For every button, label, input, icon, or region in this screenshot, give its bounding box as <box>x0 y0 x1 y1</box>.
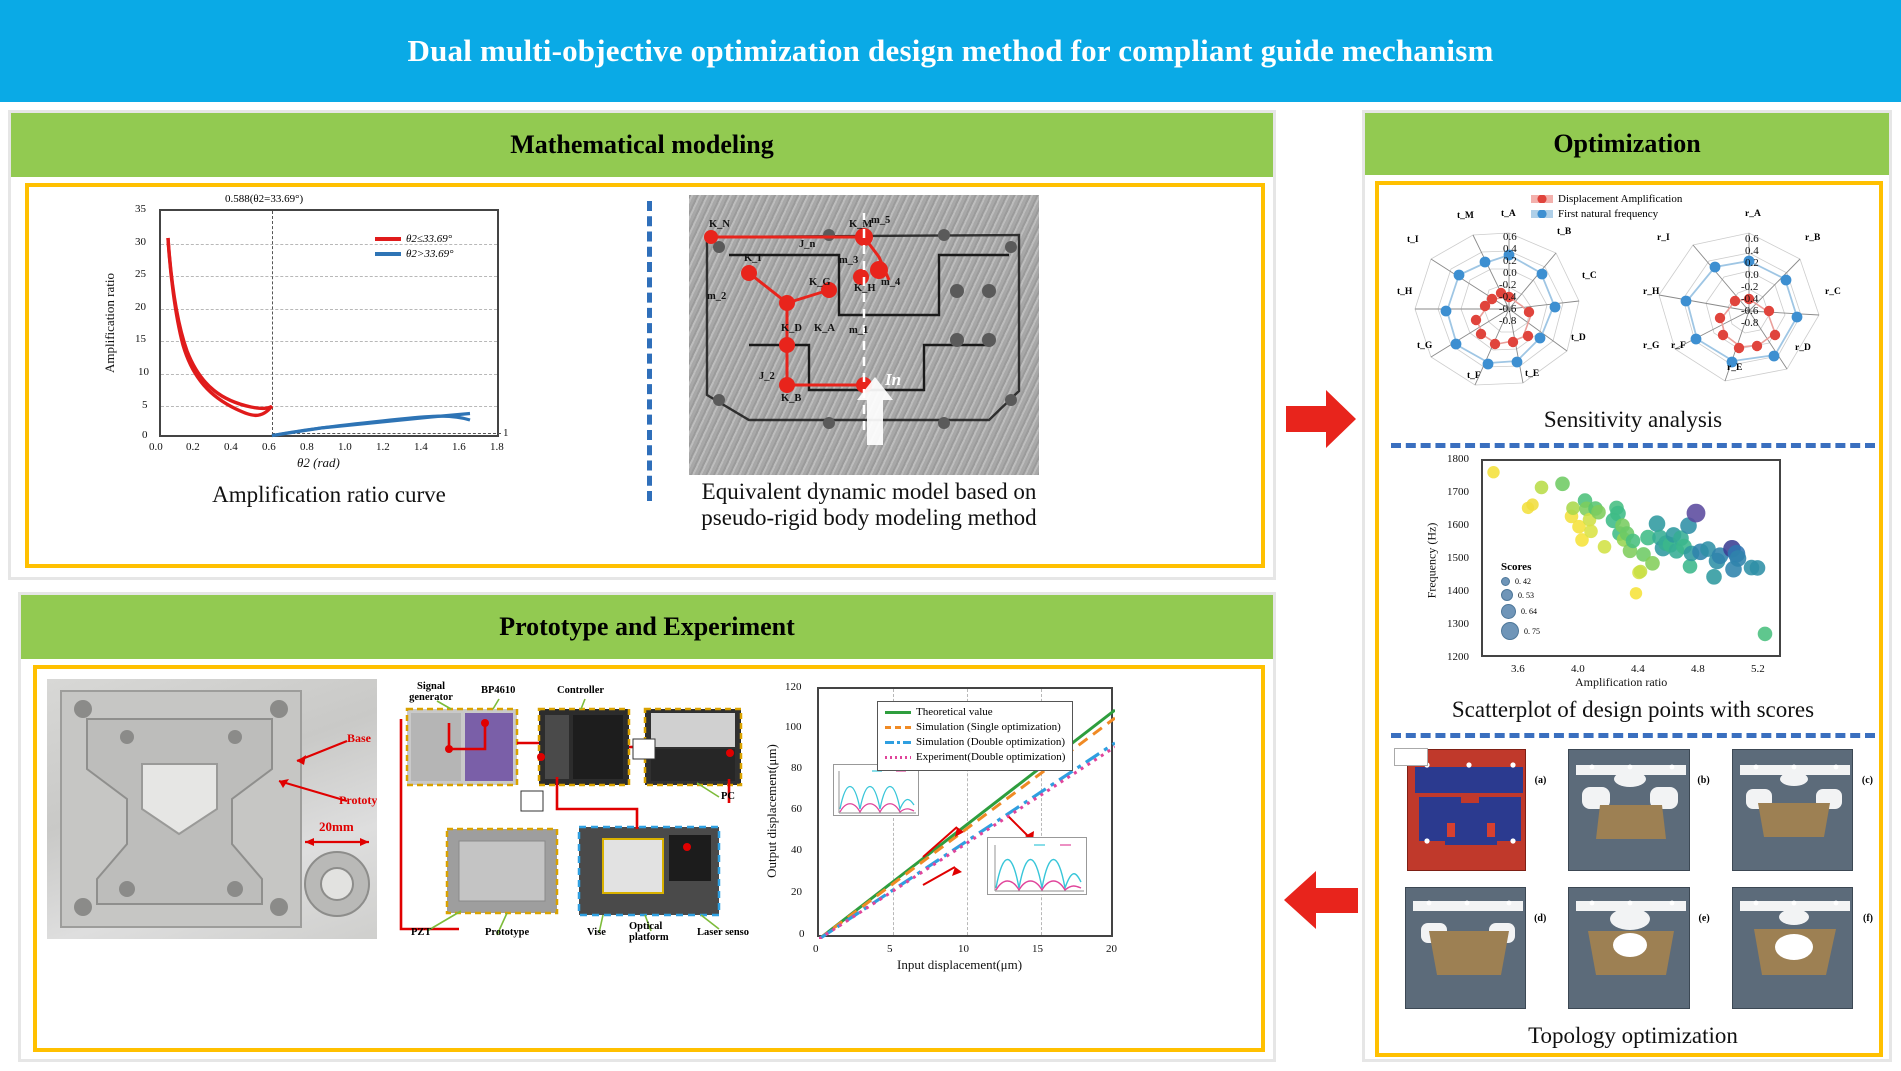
radar-axis-label-tA: t_A <box>1501 209 1516 219</box>
legend-swatch-blue <box>375 252 401 256</box>
topology-label-d: (d) <box>1534 913 1546 924</box>
rtick: 0.0 <box>1503 267 1517 279</box>
ytick: 20 <box>791 886 802 898</box>
rtick: 0.2 <box>1503 255 1517 267</box>
caption-dynamic-line1: Equivalent dynamic model based on <box>669 479 1069 505</box>
xtick: 15 <box>1032 943 1043 955</box>
scatter-point <box>1649 515 1666 532</box>
ytick: 0 <box>799 928 805 940</box>
label-vise: Vise <box>587 927 606 938</box>
output-input-legend: Theoretical value Simulation (Single opt… <box>877 701 1073 771</box>
ytick: 40 <box>791 844 802 856</box>
math-divider <box>647 201 652 501</box>
scatter-point <box>1706 569 1722 585</box>
xtick: 10 <box>958 943 969 955</box>
label-m1: m_1 <box>849 325 868 336</box>
radar-axis-label-tF: t_F <box>1467 371 1481 381</box>
radar-axis-label-rI: r_I <box>1657 233 1670 243</box>
xtick: 0.4 <box>224 441 238 453</box>
topology-label-e: (e) <box>1699 913 1710 924</box>
label-controller: Controller <box>557 685 604 696</box>
ytick: 80 <box>791 762 802 774</box>
caption-dynamic-line2: pseudo-rigid body modeling method <box>669 505 1069 531</box>
radar-axis-label-tE: t_E <box>1525 369 1539 379</box>
legend-swatch-sim-single <box>885 726 911 729</box>
topology-label-c: (c) <box>1862 775 1873 786</box>
scatter-point <box>1687 504 1706 523</box>
xtick: 5 <box>887 943 893 955</box>
label-J2: J_2 <box>759 371 775 382</box>
topology-subpanel-d: (d) <box>1391 883 1548 1015</box>
label-bp4610: BP4610 <box>481 685 515 696</box>
ytick: 1600 <box>1447 519 1469 531</box>
label-KD: K_D <box>781 323 802 334</box>
score-bubble-2 <box>1501 589 1513 601</box>
x-axis-label: Input displacement(μm) <box>897 957 1022 973</box>
experiment-setup-photo: Signal generator BP4610 Controller PC PZ… <box>389 679 749 959</box>
legend-swatch-sim-double <box>885 741 911 744</box>
topology-subpanel-c: (c) <box>1718 745 1875 877</box>
xtick: 20 <box>1106 943 1117 955</box>
label-KG: K_G <box>809 277 831 288</box>
y-axis-label: Frequency (Hz) <box>1424 523 1439 599</box>
xtick: 0 <box>813 943 819 955</box>
amplification-legend: θ2≤33.69° θ2>33.69° <box>375 233 453 263</box>
radar-axis-label-rD: r_D <box>1795 343 1811 353</box>
panel-math-header: Mathematical modeling <box>11 113 1273 177</box>
score-bubble-1 <box>1501 577 1510 586</box>
right-axis-tick: 1 <box>503 427 509 439</box>
topology-label-f: (f) <box>1863 913 1873 924</box>
legend-item: 0. 42 <box>1501 577 1540 586</box>
panel-mathematical-modeling: Mathematical modeling 0.588(θ2=33.69°) <box>8 110 1276 580</box>
caption-topology: Topology optimization <box>1483 1023 1783 1049</box>
label-m4: m_4 <box>881 277 900 288</box>
panel-prototype-experiment: Prototype and Experiment <box>18 592 1276 1062</box>
ytick: 5 <box>142 399 148 411</box>
label-prototype: Prototype <box>339 793 377 808</box>
xtick: 0.0 <box>149 441 163 453</box>
ytick: 1700 <box>1447 486 1469 498</box>
radar-axis-label-tM: t_M <box>1457 211 1474 221</box>
label-20mm: 20mm <box>319 819 354 835</box>
scatter-point <box>1584 525 1598 539</box>
ytick: 100 <box>785 721 802 733</box>
rtick: 0.0 <box>1745 269 1759 281</box>
radar-axis-label-tH: t_H <box>1397 287 1412 297</box>
topology-subpanel-b: (b) <box>1554 745 1711 877</box>
topology-label-b: (b) <box>1697 775 1709 786</box>
scores-legend-title: Scores <box>1501 561 1540 573</box>
scatter-point <box>1535 481 1549 495</box>
radar-axis-label-tI: t_I <box>1407 235 1419 245</box>
ytick: 1400 <box>1447 585 1469 597</box>
xtick: 4.0 <box>1571 663 1585 675</box>
score-bubble-3 <box>1501 604 1516 619</box>
caption-scatterplot: Scatterplot of design points with scores <box>1403 697 1863 723</box>
scatter-point <box>1526 498 1538 510</box>
legend-label: Simulation (Single optimization) <box>916 721 1061 733</box>
inset-waveform-2 <box>987 837 1087 895</box>
xtick: 1.8 <box>490 441 504 453</box>
score-bubble-4 <box>1501 622 1519 640</box>
ytick: 1500 <box>1447 552 1469 564</box>
legend-label: θ2>33.69° <box>406 248 453 260</box>
ytick: 25 <box>135 268 146 280</box>
radar-axis-label-rF: r_F <box>1671 341 1686 351</box>
caption-dynamic-model: Equivalent dynamic model based on pseudo… <box>669 479 1069 532</box>
optimization-inner-box: Displacement Amplification First natural… <box>1375 181 1883 1057</box>
x-axis-label: Amplification ratio <box>1575 675 1667 690</box>
ytick: 120 <box>785 681 802 693</box>
divider-1 <box>1391 443 1875 448</box>
legend-item: Displacement Amplification <box>1531 193 1682 205</box>
ytick: 1200 <box>1447 651 1469 663</box>
scatter-point <box>1758 627 1773 642</box>
xtick: 0.8 <box>300 441 314 453</box>
label-laser-sensor: Laser sensor <box>697 927 749 938</box>
scatter-point <box>1750 560 1766 576</box>
label-KB: K_B <box>781 393 801 404</box>
ytick: 15 <box>135 333 146 345</box>
ytick: 10 <box>138 366 149 378</box>
title-banner: Dual multi-objective optimization design… <box>0 0 1901 102</box>
legend-item: θ2≤33.69° <box>375 233 453 245</box>
prototype-photo: Base Prototype 20mm <box>47 679 377 939</box>
xtick: 0.2 <box>186 441 200 453</box>
scores-legend: Scores 0. 42 0. 53 0. 64 <box>1501 561 1540 643</box>
legend-item: 0. 75 <box>1501 622 1540 640</box>
chart-output-vs-input: 120 100 80 60 40 20 0 0 5 10 15 20 Input… <box>767 675 1137 975</box>
topology-subpanel-e: (e) <box>1554 883 1711 1015</box>
scatter-point <box>1634 565 1648 579</box>
label-KA: K_A <box>814 323 835 334</box>
label-KN: K_N <box>709 219 730 230</box>
panel-math-title: Mathematical modeling <box>510 130 774 160</box>
scatter-point <box>1555 477 1570 492</box>
legend-label: 0. 53 <box>1518 591 1534 600</box>
legend-label: Theoretical value <box>916 706 993 718</box>
label-pzt: PZT <box>411 927 431 938</box>
scatter-point <box>1591 505 1606 520</box>
legend-item: Simulation (Single optimization) <box>885 721 1065 733</box>
legend-swatch-red <box>375 237 401 241</box>
label-signal-generator: Signal generator <box>403 681 459 703</box>
topology-subpanel-f: (f) <box>1718 883 1875 1015</box>
label-KH: K_H <box>854 283 876 294</box>
caption-sensitivity: Sensitivity analysis <box>1483 407 1783 433</box>
xtick: 4.4 <box>1631 663 1645 675</box>
label-KI: K_I <box>744 253 762 264</box>
radar-axis-label-tD: t_D <box>1571 333 1586 343</box>
legend-label: Experiment(Double optimization) <box>916 751 1065 763</box>
legend-item: 0. 64 <box>1501 604 1540 619</box>
scatter-point <box>1630 587 1642 599</box>
ytick: 1800 <box>1447 453 1469 465</box>
topology-grid: (a) (b) <box>1391 745 1875 1015</box>
ytick: 35 <box>135 203 146 215</box>
arrow-optimization-to-prototype <box>1282 868 1358 932</box>
arrow-math-to-optimization <box>1286 388 1358 450</box>
ytick: 1300 <box>1447 618 1469 630</box>
legend-swatch-experiment <box>885 756 911 759</box>
legend-item: Simulation (Double optimization) <box>885 736 1065 748</box>
rtick: -0.4 <box>1499 291 1516 303</box>
ytick: 20 <box>135 301 146 313</box>
marker-label: 0.588(θ2=33.69°) <box>225 193 303 205</box>
radar-axis-label-tC: t_C <box>1582 271 1597 281</box>
rtick: -0.2 <box>1499 279 1516 291</box>
legend-label: 0. 75 <box>1524 627 1540 636</box>
scatter-point <box>1645 556 1660 571</box>
label-prototype-exp: Prototype <box>485 927 529 938</box>
xtick: 1.0 <box>338 441 352 453</box>
legend-label: 0. 42 <box>1515 577 1531 586</box>
divider-2 <box>1391 733 1875 738</box>
radar-axis-label-rC: r_C <box>1825 287 1841 297</box>
legend-label: θ2≤33.69° <box>406 233 452 245</box>
scatter-point <box>1626 534 1641 549</box>
legend-item: 0. 53 <box>1501 589 1540 601</box>
rtick: -0.6 <box>1499 303 1516 315</box>
panel-prototype-header: Prototype and Experiment <box>21 595 1273 659</box>
ytick: 30 <box>135 236 146 248</box>
label-Jn: J_n <box>799 239 815 250</box>
chart-amplification-ratio: 0.588(θ2=33.69°) <box>107 195 527 475</box>
dynamic-model-image: K_N K_M K_I K_G K_H K_D K_A K_B m_2 m_3 … <box>689 195 1039 475</box>
inset-waveform-1 <box>833 764 919 816</box>
rtick: 0.6 <box>1745 233 1759 245</box>
xtick: 0.6 <box>262 441 276 453</box>
label-m5: m_5 <box>871 215 890 226</box>
legend-swatch-theoretical <box>885 711 911 714</box>
radar-axis-label-tB: t_B <box>1557 227 1571 237</box>
radar-axis-label-rB: r_B <box>1805 233 1820 243</box>
ytick: 0 <box>142 429 148 441</box>
xtick: 4.8 <box>1691 663 1705 675</box>
rtick: 0.6 <box>1503 231 1517 243</box>
panel-optimization-header: Optimization <box>1365 113 1889 175</box>
legend-marker-red <box>1531 195 1553 203</box>
legend-item: θ2>33.69° <box>375 248 453 260</box>
label-pc: PC <box>721 791 735 802</box>
rtick: -0.8 <box>1741 317 1758 329</box>
rtick: -0.6 <box>1741 305 1758 317</box>
xtick: 1.2 <box>376 441 390 453</box>
chart-design-points-scatter: Scores 0. 42 0. 53 0. 64 <box>1385 453 1879 689</box>
input-arrow-label: In <box>885 370 901 390</box>
label-m2: m_2 <box>707 291 726 302</box>
panel-optimization-title: Optimization <box>1553 129 1700 159</box>
y-axis-label: Output displacement(μm) <box>764 744 780 878</box>
radar-axis-label-rA: r_A <box>1745 209 1761 219</box>
xtick: 1.4 <box>414 441 428 453</box>
legend-label: Simulation (Double optimization) <box>916 736 1065 748</box>
label-optical-platform: Optical platform <box>629 921 673 943</box>
xtick: 5.2 <box>1751 663 1765 675</box>
xtick: 3.6 <box>1511 663 1525 675</box>
rtick: 0.4 <box>1745 245 1759 257</box>
topology-label-a: (a) <box>1535 775 1547 786</box>
panel-optimization: Optimization Displacement Amplification … <box>1362 110 1892 1062</box>
radar-axis-label-tG: t_G <box>1417 341 1432 351</box>
radar-axis-label-rH: r_H <box>1643 287 1659 297</box>
rtick: -0.8 <box>1499 315 1516 327</box>
x-axis-label: θ2 (rad) <box>297 455 340 471</box>
panel-prototype-title: Prototype and Experiment <box>499 612 795 642</box>
scatter-point <box>1487 466 1499 478</box>
legend-label: 0. 64 <box>1521 607 1537 616</box>
page-title: Dual multi-objective optimization design… <box>407 33 1493 69</box>
scatter-point <box>1730 550 1747 567</box>
legend-item: Experiment(Double optimization) <box>885 751 1065 763</box>
scatter-point <box>1683 559 1698 574</box>
scatter-point <box>1566 501 1580 515</box>
math-inner-box: 0.588(θ2=33.69°) <box>25 183 1265 568</box>
scatter-plot-area: Scores 0. 42 0. 53 0. 64 <box>1481 459 1781 657</box>
scatter-point <box>1598 540 1612 554</box>
radar-axis-label-rE: r_E <box>1727 363 1742 373</box>
radar-axis-label-rG: r_G <box>1643 341 1659 351</box>
rtick: -0.2 <box>1741 281 1758 293</box>
caption-amplification: Amplification ratio curve <box>179 482 479 508</box>
legend-label: Displacement Amplification <box>1558 193 1682 205</box>
chart-sensitivity-radars: Displacement Amplification First natural… <box>1385 191 1879 403</box>
label-KM: K_M <box>849 219 872 230</box>
topology-subpanel-a: (a) <box>1391 745 1548 877</box>
rtick: 0.4 <box>1503 243 1517 255</box>
prototype-inner-box: Base Prototype 20mm <box>33 665 1265 1052</box>
xtick: 1.6 <box>452 441 466 453</box>
y-axis-label: Amplification ratio <box>102 273 118 373</box>
legend-item: Theoretical value <box>885 706 1065 718</box>
label-m3: m_3 <box>839 255 858 266</box>
label-base: Base <box>347 731 371 746</box>
ytick: 60 <box>791 803 802 815</box>
rtick: 0.2 <box>1745 257 1759 269</box>
rtick: -0.4 <box>1741 293 1758 305</box>
